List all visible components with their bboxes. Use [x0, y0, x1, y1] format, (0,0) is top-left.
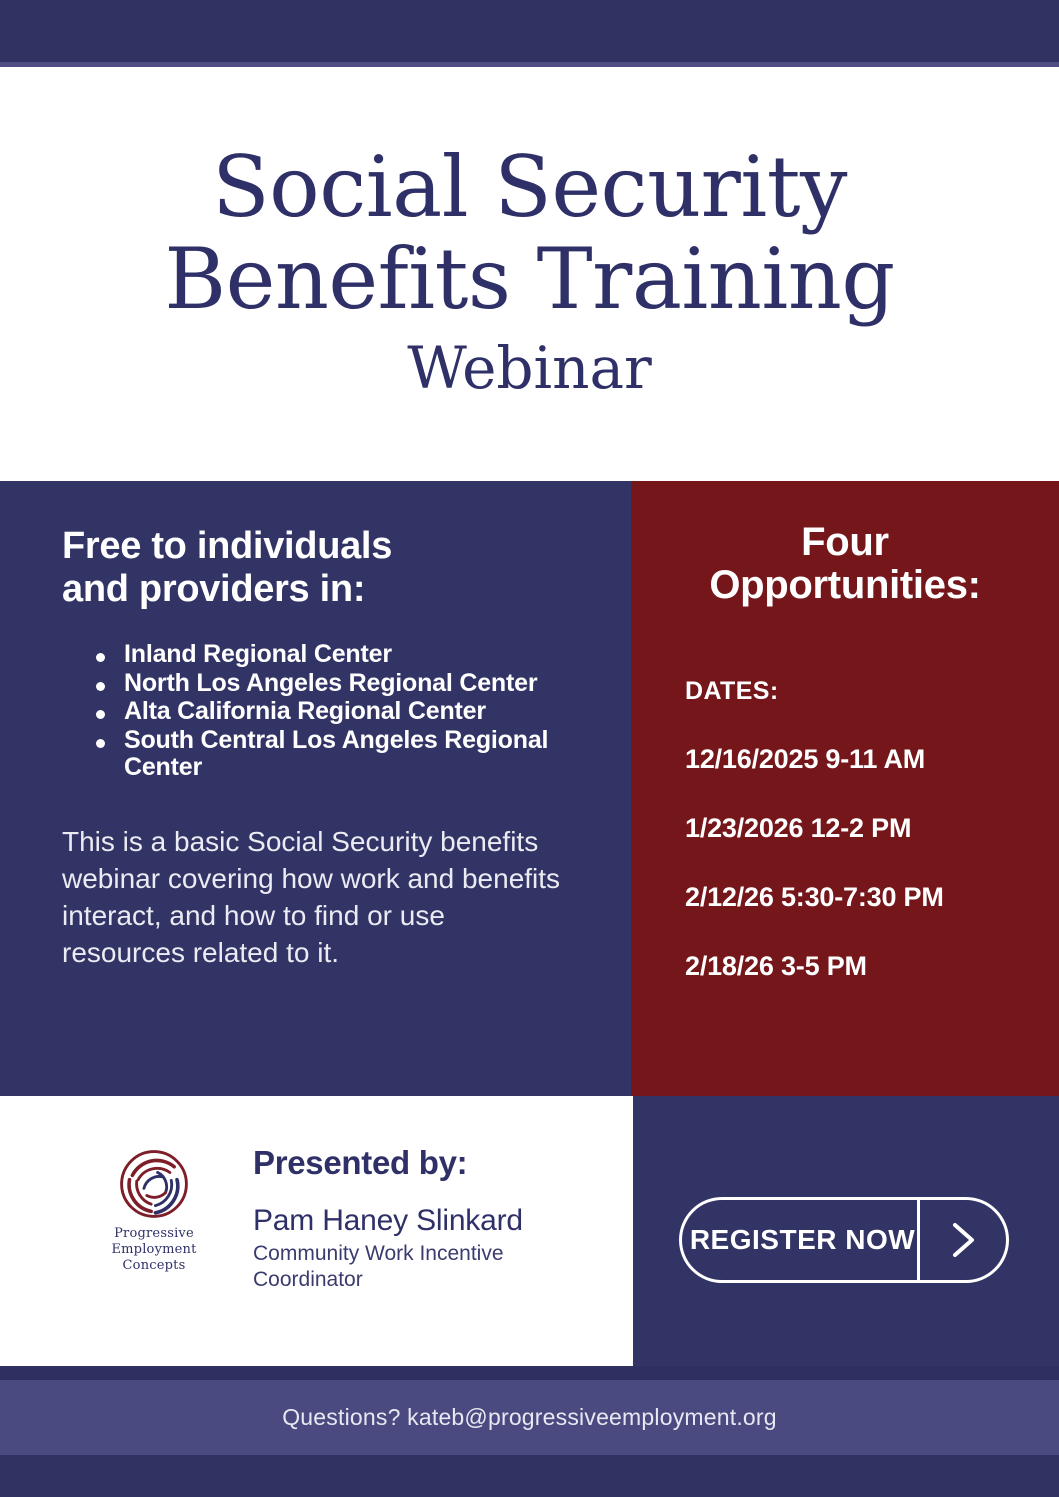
hero-section: Social Security Benefits Training Webina…	[0, 67, 1059, 481]
top-accent-bar	[0, 0, 1059, 62]
logo-wordmark-line-3: Concepts	[104, 1258, 204, 1274]
footer-divider	[0, 1366, 1059, 1380]
description-paragraph: This is a basic Social Security benefits…	[62, 823, 562, 972]
page-title-line-2: Benefits Training	[164, 238, 894, 320]
footer-bottom-bar	[0, 1455, 1059, 1497]
progressive-employment-concepts-logo-icon	[118, 1148, 190, 1220]
opportunities-heading-line-2: Opportunities:	[709, 563, 980, 607]
presenter-role: Community Work Incentive Coordinator	[253, 1241, 523, 1294]
eligibility-heading-line-2: and providers in:	[62, 568, 365, 610]
presenter-role-line-1: Community Work Incentive	[253, 1241, 523, 1267]
chevron-right-icon	[920, 1200, 1006, 1280]
page-subtitle: Webinar	[407, 334, 652, 402]
regional-center-list: Inland Regional Center North Los Angeles…	[90, 641, 595, 781]
logo-wordmark-line-1: Progressive	[104, 1226, 204, 1242]
register-now-button[interactable]: REGISTER NOW	[679, 1197, 1009, 1283]
date-option-3: 2/12/26 5:30-7:30 PM	[685, 882, 1033, 913]
list-item: Alta California Regional Center	[90, 698, 595, 725]
list-item: South Central Los Angeles Regional Cente…	[90, 727, 595, 781]
opportunities-heading: Four Opportunities:	[657, 521, 1033, 607]
eligibility-panel: Free to individuals and providers in: In…	[0, 481, 631, 1096]
opportunities-heading-line-1: Four	[801, 520, 889, 564]
page-title-line-1: Social Security	[212, 146, 847, 228]
list-item: North Los Angeles Regional Center	[90, 670, 595, 697]
eligibility-heading-line-1: Free to individuals	[62, 525, 392, 567]
schedule-panel: Four Opportunities: DATES: 12/16/2025 9-…	[631, 481, 1059, 1096]
logo-wordmark-line-2: Employment	[104, 1242, 204, 1258]
logo-wordmark: Progressive Employment Concepts	[104, 1226, 204, 1274]
organization-logo: Progressive Employment Concepts	[104, 1148, 204, 1274]
date-option-2: 1/23/2026 12-2 PM	[685, 813, 1033, 844]
contact-email-text: Questions? kateb@progressiveemployment.o…	[282, 1404, 777, 1431]
list-item: Inland Regional Center	[90, 641, 595, 668]
date-option-4: 2/18/26 3-5 PM	[685, 951, 1033, 982]
presenter-name: Pam Haney Slinkard	[253, 1204, 523, 1238]
footer-contact-band: Questions? kateb@progressiveemployment.o…	[0, 1380, 1059, 1455]
dates-label: DATES:	[685, 677, 1033, 706]
presenter-role-line-2: Coordinator	[253, 1267, 523, 1293]
presented-by-label: Presented by:	[253, 1144, 523, 1182]
presenter-info: Presented by: Pam Haney Slinkard Communi…	[253, 1144, 523, 1294]
register-now-label: REGISTER NOW	[682, 1224, 917, 1256]
date-option-1: 12/16/2025 9-11 AM	[685, 744, 1033, 775]
eligibility-heading: Free to individuals and providers in:	[62, 525, 595, 611]
